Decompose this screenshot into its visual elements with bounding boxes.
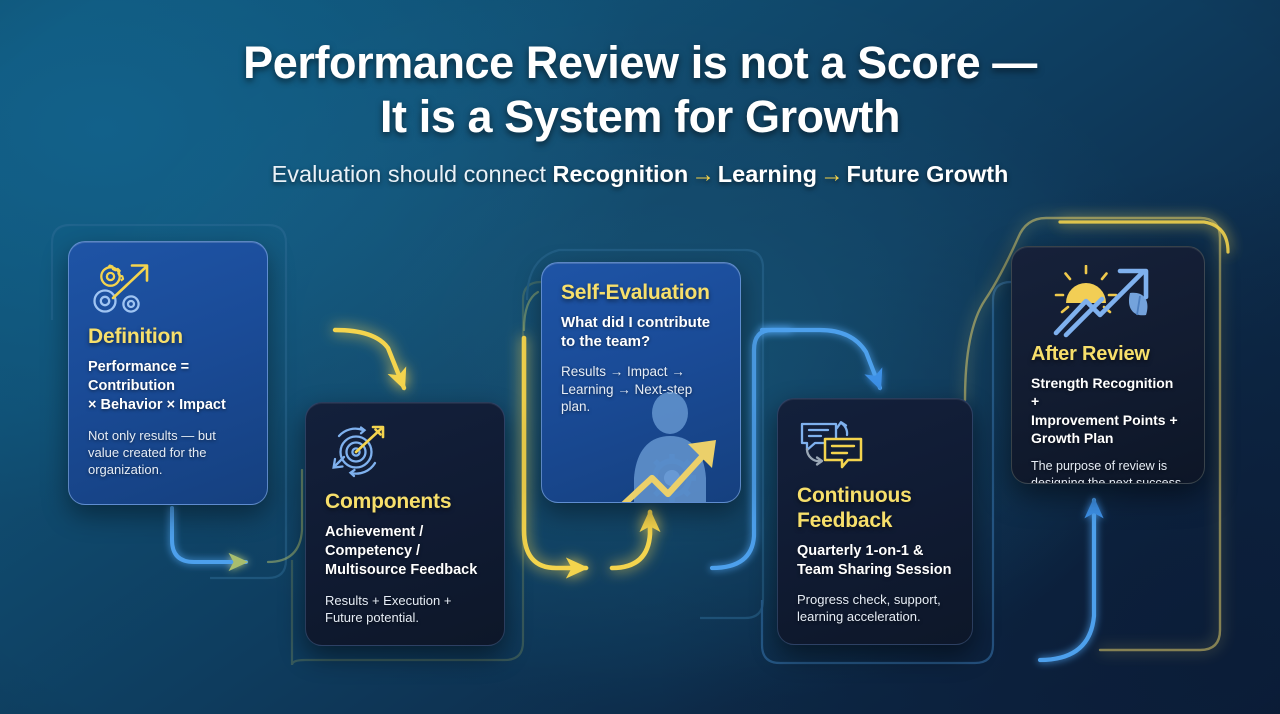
card-after-review[interactable]: After Review Strength Recognition + Impr…: [1011, 246, 1205, 484]
card-components-note: Results + Execution + Future potential.: [325, 592, 485, 627]
card-continuous-feedback-note: Progress check, support, learning accele…: [797, 591, 953, 626]
page-subtitle: Evaluation should connect Recognition→Le…: [0, 160, 1280, 189]
card-continuous-feedback-title: Continuous Feedback: [797, 484, 953, 533]
card-continuous-feedback[interactable]: Continuous Feedback Quarterly 1-on-1 & T…: [777, 398, 973, 645]
subtitle-arrow-1-icon: →: [688, 161, 718, 187]
subtitle-step-future-growth: Future Growth: [847, 161, 1009, 187]
card-after-review-body: Strength Recognition + Improvement Point…: [1031, 374, 1185, 447]
subtitle-prefix: Evaluation should connect: [272, 161, 553, 187]
card-self-evaluation-title: Self-Evaluation: [561, 281, 721, 305]
card-continuous-feedback-body: Quarterly 1-on-1 & Team Sharing Session: [797, 542, 953, 580]
header: Performance Review is not a Score — It i…: [0, 36, 1280, 189]
subtitle-arrow-2-icon: →: [817, 161, 847, 187]
card-components-title: Components: [325, 490, 485, 514]
card-components[interactable]: Components Achievement / Competency / Mu…: [305, 402, 505, 646]
page-title: Performance Review is not a Score — It i…: [0, 36, 1280, 143]
card-self-evaluation-body: What did I contribute to the team?: [561, 313, 721, 351]
card-definition[interactable]: Definition Performance = Contribution × …: [68, 241, 268, 505]
subtitle-step-learning: Learning: [718, 161, 817, 187]
subtitle-step-recognition: Recognition: [553, 161, 689, 187]
card-components-body: Achievement / Competency / Multisource F…: [325, 523, 485, 580]
card-definition-body: Performance = Contribution × Behavior × …: [88, 358, 248, 415]
gears-growth-arrow-icon: [88, 260, 160, 316]
connector-into-components: [335, 330, 404, 388]
card-self-evaluation[interactable]: Self-Evaluation What did I contribute to…: [541, 262, 741, 503]
target-arrow-cycle-icon: [325, 421, 395, 481]
sunrise-growth-leaf-icon: [1042, 265, 1174, 339]
connector-components-to-self-eval-b: [612, 512, 650, 568]
card-after-review-title: After Review: [1031, 343, 1185, 366]
speech-bubbles-loop-icon: [797, 417, 869, 475]
card-definition-title: Definition: [88, 325, 248, 349]
card-after-review-note: The purpose of review is designing the n…: [1031, 458, 1185, 484]
connector-definition-to-components-lower: [172, 508, 246, 562]
connector-into-feedback: [762, 330, 880, 388]
title-line-2: It is a System for Growth: [0, 90, 1280, 144]
connector-feedback-to-after-review-bottom: [1040, 500, 1094, 660]
card-definition-note: Not only results — but value created for…: [88, 427, 248, 479]
person-gear-growth-icon: [618, 386, 741, 503]
title-line-1: Performance Review is not a Score —: [243, 37, 1037, 88]
